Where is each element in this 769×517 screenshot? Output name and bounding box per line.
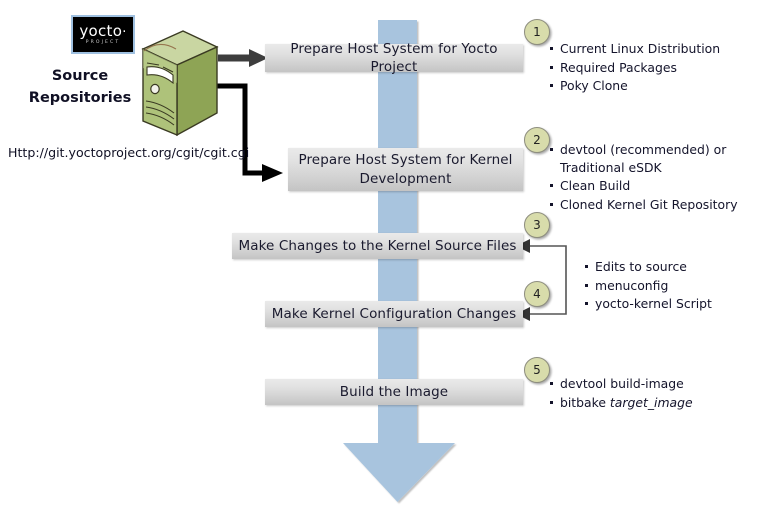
step-box-prepare-host-kernel[interactable]: Prepare Host System for Kernel Developme… [288,148,523,191]
note-text-italic: target_image [610,395,693,410]
step-box-prepare-host-yocto[interactable]: Prepare Host System for Yocto Project [265,44,523,72]
kernel-development-workflow-diagram: yocto· PROJECT Source Repositories Http:… [0,0,769,517]
step-number-5: 5 [524,357,550,383]
note-text: Current Linux Distribution [560,41,720,56]
step-number-4: 4 [524,281,550,307]
logo-word-text: yocto [79,22,122,40]
note-text: Cloned Kernel Git Repository [560,197,738,212]
note-text: devtool (recommended) or Traditional eSD… [560,142,726,175]
step-box-label: Make Kernel Configuration Changes [272,305,516,323]
note-item: Current Linux Distribution [548,40,764,58]
source-repositories-label: Source Repositories [20,66,140,110]
step-box-build-image[interactable]: Build the Image [265,379,523,405]
notes-list: devtool build-image bitbake target_image [548,375,764,411]
step-box-make-config-changes[interactable]: Make Kernel Configuration Changes [265,301,523,327]
note-item: Required Packages [548,59,764,77]
note-text: Edits to source [595,259,687,274]
note-text: bitbake [560,395,610,410]
step-number-label: 5 [533,363,541,377]
note-item: bitbake target_image [548,394,764,412]
note-item: yocto-kernel Script [583,295,763,313]
step-number-3: 3 [524,212,550,238]
note-item: devtool (recommended) or Traditional eSD… [548,141,764,176]
logo-dot: · [122,25,126,40]
note-item: devtool build-image [548,375,764,393]
step-number-label: 2 [533,133,541,147]
notes-list: Edits to source menuconfig yocto-kernel … [583,258,763,313]
note-item: menuconfig [583,277,763,295]
note-text: Poky Clone [560,78,628,93]
note-text: yocto-kernel Script [595,296,712,311]
connector-source-to-step1 [218,49,268,67]
step-box-make-source-changes[interactable]: Make Changes to the Kernel Source Files [232,233,523,259]
step-number-label: 3 [533,218,541,232]
notes-list: devtool (recommended) or Traditional eSD… [548,141,764,213]
step-box-label: Prepare Host System for Kernel Developme… [288,151,523,187]
main-flow-arrow [343,20,455,502]
source-label-line2: Repositories [20,88,140,110]
step-number-label: 4 [533,287,541,301]
step-box-label: Build the Image [340,383,448,401]
yocto-project-logo: yocto· PROJECT [71,15,135,54]
note-item: Edits to source [583,258,763,276]
source-repository-url: Http://git.yoctoproject.org/cgit/cgit.cg… [8,145,249,160]
source-label-line1: Source [20,66,140,88]
connector-source-to-step2 [213,86,283,182]
notes-list: Current Linux Distribution Required Pack… [548,40,764,95]
step-1-notes: Current Linux Distribution Required Pack… [548,40,764,96]
note-text: devtool build-image [560,376,684,391]
connector-feedback-loop [516,239,566,321]
note-text: Required Packages [560,60,677,75]
note-item: Cloned Kernel Git Repository [548,196,764,214]
logo-wordmark: yocto· [79,24,126,39]
step-number-2: 2 [524,127,550,153]
note-text: Clean Build [560,178,630,193]
step-box-label: Make Changes to the Kernel Source Files [238,237,516,255]
logo-subtitle: PROJECT [86,41,121,46]
server-icon [131,27,223,142]
step-5-notes: devtool build-image bitbake target_image [548,375,764,412]
step-2-notes: devtool (recommended) or Traditional eSD… [548,141,764,214]
step-box-label: Prepare Host System for Yocto Project [265,40,523,76]
steps-3-4-shared-notes: Edits to source menuconfig yocto-kernel … [583,258,763,314]
note-item: Poky Clone [548,77,764,95]
note-item: Clean Build [548,177,764,195]
note-text: menuconfig [595,278,668,293]
step-number-1: 1 [524,19,550,45]
step-number-label: 1 [533,25,541,39]
